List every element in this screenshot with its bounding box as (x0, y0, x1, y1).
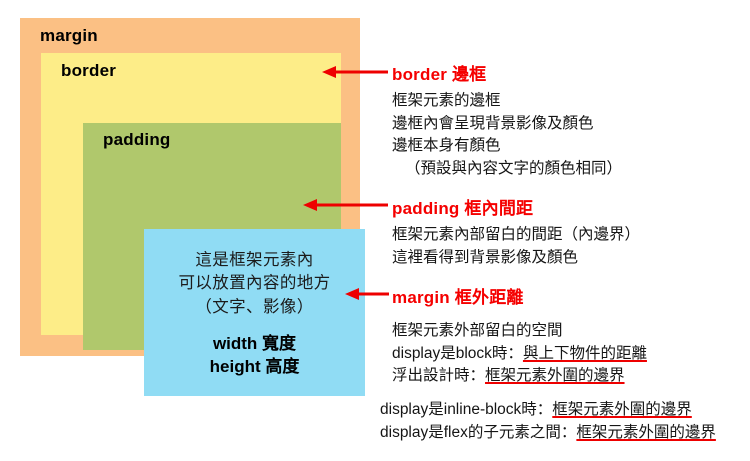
bottom-note-1: display是inline-block時：框架元素外圍的邊界 (380, 398, 716, 421)
annotation-border-line-1: 框架元素的邊框 (392, 90, 622, 113)
width-label: width 寬度 (144, 333, 365, 356)
annotation-border: border 邊框 框架元素的邊框 邊框內會呈現背景影像及顏色 邊框本身有顏色 … (392, 60, 622, 181)
annotation-border-body: 框架元素的邊框 邊框內會呈現背景影像及顏色 邊框本身有顏色 （預設與內容文字的顏… (392, 90, 622, 181)
content-line-3: （文字、影像） (144, 296, 365, 319)
annotation-padding-line-1: 框架元素內部留白的間距（內邊界） (392, 224, 640, 247)
annotation-margin: margin 框外距離 框架元素外部留白的空間 display是block時：與… (392, 283, 647, 388)
border-box: border padding 這是框架元素內 可以放置內容的地方 （文字、影像）… (41, 53, 341, 335)
height-label: height 高度 (144, 356, 365, 379)
bottom-note-2-underlined: 框架元素外圍的邊界 (576, 424, 716, 441)
annotation-padding-line-2: 這裡看得到背景影像及顏色 (392, 247, 640, 270)
margin-pointer-arrow-icon (343, 287, 391, 301)
annotation-padding-body: 框架元素內部留白的間距（內邊界） 這裡看得到背景影像及顏色 (392, 224, 640, 269)
bottom-note-1-underlined: 框架元素外圍的邊界 (552, 401, 692, 418)
bottom-note-1-plain: display是inline-block時： (380, 401, 552, 418)
border-pointer-arrow-icon (320, 65, 390, 79)
annotation-border-title: border 邊框 (392, 60, 622, 85)
border-box-label: border (61, 61, 116, 81)
padding-box: padding 這是框架元素內 可以放置內容的地方 （文字、影像） width … (83, 123, 341, 350)
annotation-padding: padding 框內間距 框架元素內部留白的間距（內邊界） 這裡看得到背景影像及… (392, 194, 640, 269)
content-box-text: 這是框架元素內 可以放置內容的地方 （文字、影像） width 寬度 heigh… (144, 249, 365, 379)
content-box: 這是框架元素內 可以放置內容的地方 （文字、影像） width 寬度 heigh… (144, 229, 365, 396)
padding-pointer-arrow-icon (301, 198, 390, 212)
content-line-1: 這是框架元素內 (144, 249, 365, 272)
margin-box-label: margin (40, 26, 98, 46)
bottom-note-2: display是flex的子元素之間：框架元素外圍的邊界 (380, 421, 716, 444)
annotation-padding-title: padding 框內間距 (392, 194, 640, 219)
content-line-2: 可以放置內容的地方 (144, 272, 365, 295)
annotation-margin-line-1-plain: 框架元素外部留白的空間 (392, 322, 563, 339)
bottom-note-2-plain: display是flex的子元素之間： (380, 424, 576, 441)
annotation-margin-line-1: 框架元素外部留白的空間 (392, 320, 647, 343)
annotation-border-line-2: 邊框內會呈現背景影像及顏色 (392, 113, 622, 136)
annotation-margin-line-3: 浮出設計時：框架元素外圍的邊界 (392, 365, 647, 388)
box-model-diagram: margin border padding 這是框架元素內 可以放置內容的地方 … (20, 18, 360, 356)
annotation-margin-line-2: display是block時：與上下物件的距離 (392, 343, 647, 366)
margin-box: margin border padding 這是框架元素內 可以放置內容的地方 … (20, 18, 360, 356)
annotation-margin-title: margin 框外距離 (392, 283, 647, 308)
annotation-margin-line-2-underlined: 與上下物件的距離 (523, 345, 647, 362)
annotation-border-line-3: 邊框本身有顏色 (392, 135, 622, 158)
annotation-margin-line-3-underlined: 框架元素外圍的邊界 (485, 367, 625, 384)
annotation-margin-line-3-plain: 浮出設計時： (392, 367, 485, 384)
annotation-border-line-4: （預設與內容文字的顏色相同） (392, 158, 622, 181)
padding-box-label: padding (103, 130, 171, 150)
annotation-margin-line-2-plain: display是block時： (392, 345, 523, 362)
annotation-margin-body: 框架元素外部留白的空間 display是block時：與上下物件的距離 浮出設計… (392, 320, 647, 388)
content-dimensions: width 寬度 height 高度 (144, 333, 365, 379)
bottom-notes: display是inline-block時：框架元素外圍的邊界 display是… (380, 398, 716, 445)
